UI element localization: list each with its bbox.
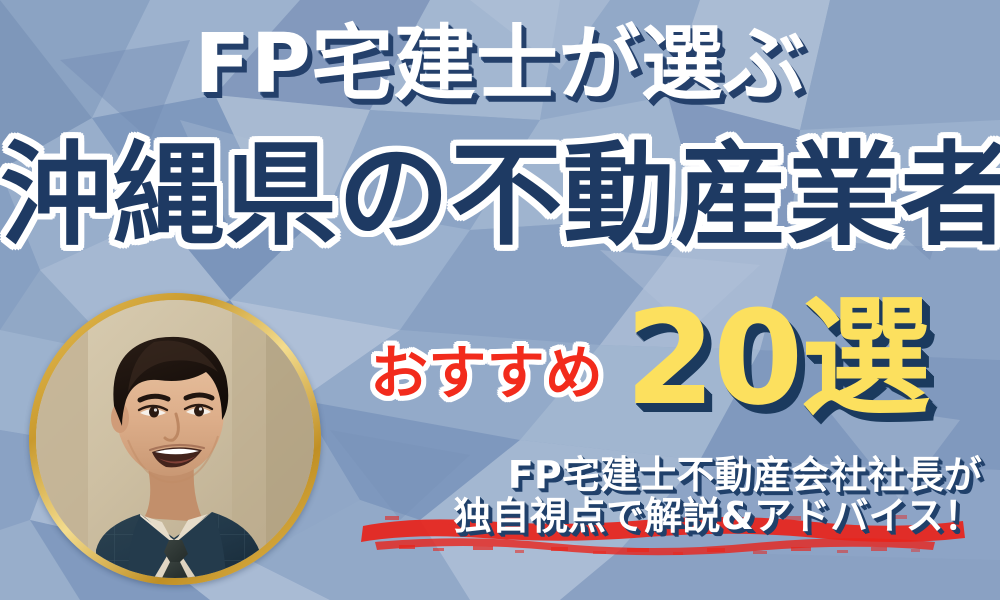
recommend-label: おすすめ	[370, 344, 603, 402]
headline-line-1: FP宅建士が選ぶ	[0, 24, 1000, 106]
portrait-photo-clip	[36, 300, 314, 578]
portrait-avatar	[29, 293, 321, 585]
headline-line-2: 沖縄県の不動産業者	[0, 140, 1000, 252]
thumbnail-canvas: FP宅建士が選ぶ 沖縄県の不動産業者	[0, 0, 1000, 600]
count-badge: 20選	[625, 293, 928, 423]
businessman-photo	[36, 300, 314, 578]
